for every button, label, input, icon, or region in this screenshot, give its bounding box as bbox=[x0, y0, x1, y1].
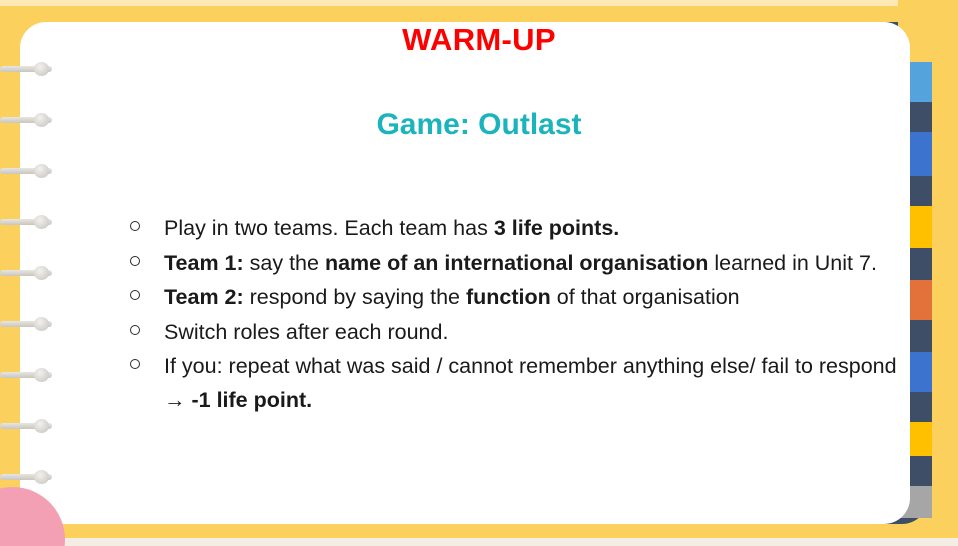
spiral-ring bbox=[0, 419, 52, 433]
hollow-circle-bullet-icon bbox=[130, 359, 140, 369]
instruction-list: Play in two teams. Each team has 3 life … bbox=[128, 212, 898, 418]
list-item-label: Team 2: respond by saying the function o… bbox=[164, 285, 740, 309]
spiral-ring-knob bbox=[34, 164, 49, 178]
hollow-circle-bullet-icon bbox=[130, 256, 140, 266]
spiral-ring bbox=[0, 62, 52, 76]
frame-bottom-shadow bbox=[0, 538, 958, 546]
spiral-ring-knob bbox=[34, 317, 49, 331]
spiral-ring bbox=[0, 215, 52, 229]
spiral-ring-knob bbox=[34, 470, 49, 484]
spiral-ring-knob bbox=[34, 368, 49, 382]
list-item-label: Team 1: say the name of an international… bbox=[164, 251, 877, 275]
list-item: Team 1: say the name of an international… bbox=[128, 247, 898, 281]
spiral-ring bbox=[0, 266, 52, 280]
spiral-ring-knob bbox=[34, 419, 49, 433]
game-subtitle: Game: Outlast bbox=[0, 108, 958, 142]
spiral-ring-knob bbox=[34, 62, 49, 76]
spiral-ring-knob bbox=[34, 215, 49, 229]
spiral-ring bbox=[0, 368, 52, 382]
list-item-label: Switch roles after each round. bbox=[164, 320, 448, 344]
list-item: If you: repeat what was said / cannot re… bbox=[128, 350, 898, 417]
hollow-circle-bullet-icon bbox=[130, 221, 140, 231]
spiral-ring bbox=[0, 164, 52, 178]
hollow-circle-bullet-icon bbox=[130, 290, 140, 300]
spiral-ring bbox=[0, 317, 52, 331]
page-title: WARM-UP bbox=[0, 22, 958, 58]
list-item: Play in two teams. Each team has 3 life … bbox=[128, 212, 898, 246]
spiral-ring-knob bbox=[34, 266, 49, 280]
list-item-label: Play in two teams. Each team has 3 life … bbox=[164, 216, 619, 240]
list-item: Switch roles after each round. bbox=[128, 316, 898, 350]
spiral-ring bbox=[0, 470, 52, 484]
slide-canvas: WARM-UP Game: Outlast Play in two teams.… bbox=[0, 0, 958, 546]
list-item-label: If you: repeat what was said / cannot re… bbox=[164, 354, 897, 412]
list-item: Team 2: respond by saying the function o… bbox=[128, 281, 898, 315]
hollow-circle-bullet-icon bbox=[130, 325, 140, 335]
